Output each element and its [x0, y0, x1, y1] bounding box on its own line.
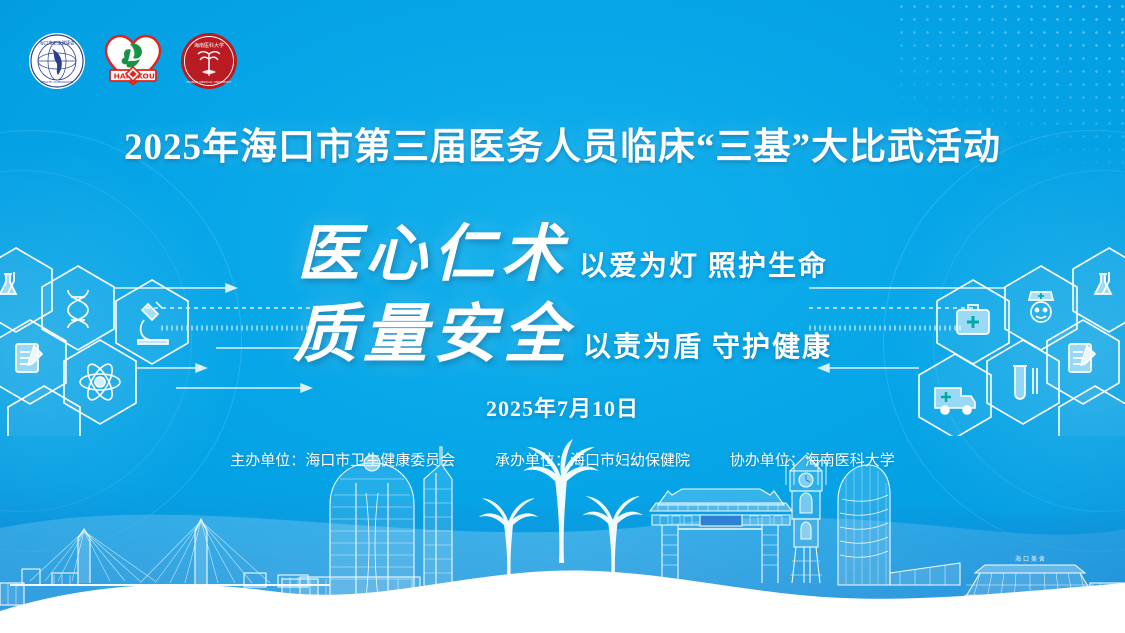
slogan-line-2: 质量安全以责为盾 守护健康 — [0, 283, 1125, 375]
slogan-line-1: 医心仁术以爱为灯 照护生命 — [0, 203, 1125, 293]
slogan-1-sub: 以爱为灯 照护生命 — [579, 251, 828, 282]
stadium-label: 海 口 美 舍 — [1015, 555, 1045, 563]
page-title: 2025年海口市第三届医务人员临床“三基”大比武活动 — [0, 116, 1125, 170]
small-buildings-left — [0, 583, 24, 605]
haikou-maternal-child-hospital-logo: HAI KOU — [102, 30, 164, 97]
poster-canvas: 海口市卫生健康委 HEALTH COMMISSION HAI KOU — [0, 0, 1125, 633]
svg-text:HEALTH COMMISSION: HEALTH COMMISSION — [41, 80, 73, 84]
slogan-2-main: 质量安全 — [293, 299, 573, 370]
slogan-1-main: 医心仁术 — [297, 221, 569, 289]
logo-row: 海口市卫生健康委 HEALTH COMMISSION HAI KOU — [28, 30, 238, 97]
haikou-health-commission-logo: 海口市卫生健康委 HEALTH COMMISSION — [28, 32, 86, 95]
skyline-artwork: 海 口 美 舍 — [0, 433, 1125, 633]
svg-text:海口市卫生健康委: 海口市卫生健康委 — [39, 40, 75, 47]
spire-tower — [424, 447, 452, 599]
svg-text:海南医科大学: 海南医科大学 — [194, 42, 224, 49]
slogan-2-sub: 以责为盾 守护健康 — [583, 332, 832, 363]
hainan-medical-university-logo: 海南医科大学 HAINAN MEDICAL UNIVERSITY — [180, 32, 238, 95]
event-date: 2025年7月10日 — [0, 391, 1125, 423]
svg-text:HAINAN MEDICAL UNIVERSITY: HAINAN MEDICAL UNIVERSITY — [187, 80, 232, 84]
